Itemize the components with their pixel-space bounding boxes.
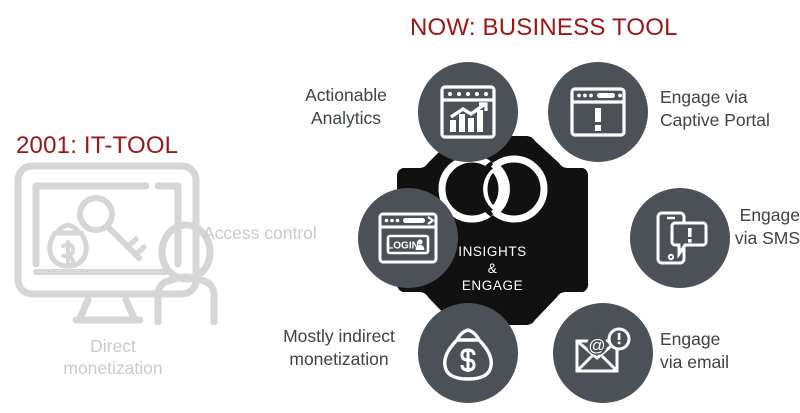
node-email[interactable]: @ <box>553 303 653 403</box>
browser-login-icon: LOGIN <box>377 211 439 265</box>
node-label-monetization: Mostly indirect monetization <box>263 325 415 371</box>
node-captive-portal[interactable] <box>548 62 648 162</box>
node-login[interactable]: LOGIN <box>358 188 458 288</box>
browser-alert-icon <box>569 86 627 138</box>
page-title-legacy: 2001: IT-TOOL <box>16 132 178 160</box>
legacy-label-access-control: Access control <box>203 222 343 244</box>
page-title-now: NOW: BUSINESS TOOL <box>410 14 678 42</box>
node-label-captive-portal: Engage via Captive Portal <box>660 86 800 132</box>
slide-canvas: 2001: IT-TOOL NOW: BUSINESS TOOL <box>0 0 800 413</box>
node-monetization[interactable] <box>418 303 518 403</box>
money-bag-dollar-icon <box>441 324 495 382</box>
browser-bar-chart-icon <box>439 84 497 140</box>
node-sms[interactable] <box>630 188 730 288</box>
node-analytics[interactable] <box>418 62 518 162</box>
svg-text:@: @ <box>588 336 605 355</box>
phone-message-alert-icon <box>651 209 709 267</box>
node-label-email: Engage via email <box>660 328 790 374</box>
envelope-at-alert-icon: @ <box>573 327 633 379</box>
legacy-label-direct-monetization: Direct monetization <box>28 335 198 380</box>
login-button-text: LOGIN <box>387 241 419 252</box>
node-label-sms: Engage via SMS <box>722 204 800 250</box>
node-label-analytics: Actionable Analytics <box>286 84 406 130</box>
